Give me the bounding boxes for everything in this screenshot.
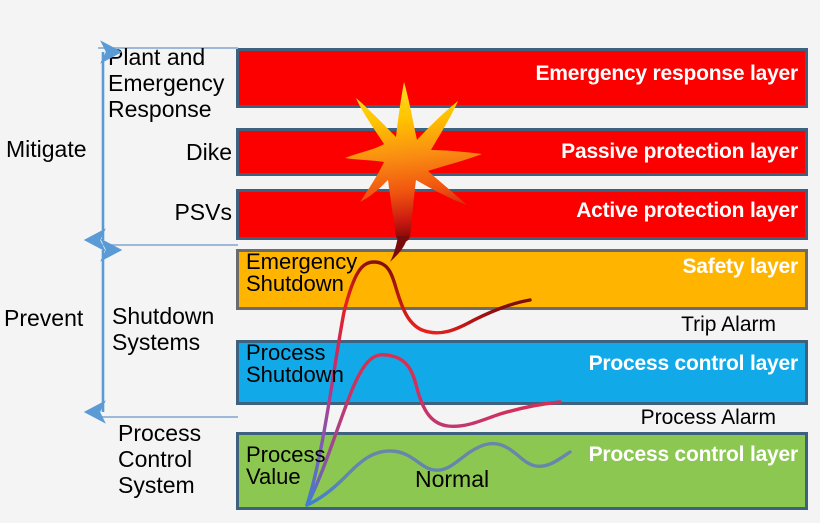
group-label-mitigate: Mitigate <box>6 136 98 162</box>
annotation-normal: Normal <box>415 466 489 493</box>
layer-label-process-control-upper: Process control layer <box>589 352 798 376</box>
group-sublabel-mitigate: Plant and Emergency Response <box>108 44 238 122</box>
row-tag-psvs: PSVs <box>108 199 232 225</box>
group-sublabel-prevent: Shutdown Systems <box>112 303 244 355</box>
layer-sublabel-process-value: Process Value <box>246 444 325 489</box>
group-sublabel-process-control-system: Process Control System <box>118 420 246 498</box>
alarm-trip: Trip Alarm <box>681 313 776 337</box>
layer-label-emergency-response: Emergency response layer <box>535 62 798 86</box>
layer-label-active-protection: Active protection layer <box>576 199 798 223</box>
layer-label-passive-protection: Passive protection layer <box>561 140 798 164</box>
divider-prevent-pcs <box>98 416 238 418</box>
layer-label-safety: Safety layer <box>682 255 798 279</box>
divider-mitigate-prevent <box>98 244 238 246</box>
layer-sublabel-process-shutdown: Process Shutdown <box>246 342 344 387</box>
row-tag-dike: Dike <box>108 139 232 165</box>
group-label-prevent: Prevent <box>4 305 100 331</box>
diagram-canvas: Mitigate Plant and Emergency Response Di… <box>0 0 820 523</box>
alarm-process: Process Alarm <box>641 406 776 430</box>
layer-sublabel-emergency-shutdown: Emergency Shutdown <box>246 251 357 296</box>
layer-label-process-control-lower: Process control layer <box>589 443 798 467</box>
